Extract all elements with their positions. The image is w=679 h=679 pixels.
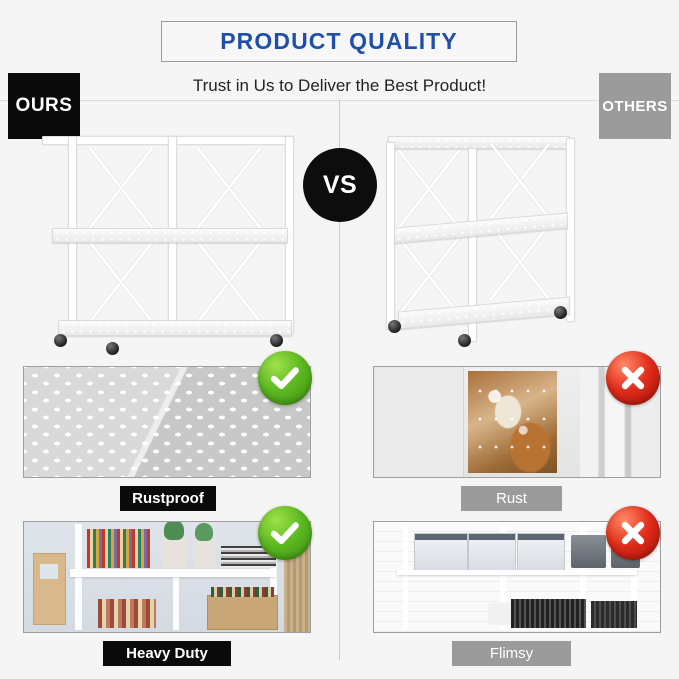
shelf-brace-upper-left <box>75 148 167 228</box>
rust-panel-left <box>374 367 464 477</box>
wooden-chair <box>33 553 66 625</box>
garage-shelf-deck <box>397 570 637 574</box>
shelf-deck-bottom <box>58 320 292 336</box>
potted-plant-b <box>193 540 216 569</box>
shelf-illustration-theirs <box>358 128 648 353</box>
caption-heavy-duty: Heavy Duty <box>103 641 231 666</box>
room-shelf-deck <box>70 569 276 577</box>
plastic-bin-3 <box>517 533 565 571</box>
badge-ours-label: OURS <box>16 95 73 117</box>
room-shelf-post-a <box>75 524 82 630</box>
black-crate-1 <box>511 599 585 628</box>
theirs-brace-upper-right <box>476 144 564 218</box>
shelf-caster-right <box>270 334 283 347</box>
caption-rust-label: Rust <box>496 490 527 507</box>
page-subtitle: Trust in Us to Deliver the Best Product! <box>0 76 679 96</box>
plastic-bin-2 <box>468 533 516 571</box>
versus-label: VS <box>323 171 357 200</box>
rust-panel-center <box>468 371 557 472</box>
caption-rust: Rust <box>461 486 562 511</box>
theirs-caster-front <box>458 334 471 347</box>
shelf-caster-front <box>106 342 119 355</box>
theirs-brace-lower-right <box>476 224 564 300</box>
theirs-caster-left <box>388 320 401 333</box>
theirs-brace-upper-left <box>392 150 466 228</box>
cross-icon-rust <box>606 351 660 405</box>
check-icon-heavy-duty <box>258 506 312 560</box>
plastic-bin-1 <box>414 533 467 571</box>
shelf-brace-lower-left <box>75 240 167 324</box>
cross-icon-flimsy <box>606 506 660 560</box>
caption-flimsy: Flimsy <box>452 641 571 666</box>
garage-shelf-post-1 <box>403 526 409 629</box>
storage-box <box>207 595 278 630</box>
shelf-deck-middle <box>52 228 288 243</box>
shelf-caster-left <box>54 334 67 347</box>
title-box: PRODUCT QUALITY <box>161 21 517 62</box>
black-crate-2 <box>591 601 637 627</box>
page-title: PRODUCT QUALITY <box>220 28 458 55</box>
theirs-post-right <box>566 138 575 322</box>
storage-tote-1 <box>571 535 605 568</box>
product-quality-comparison-infographic: PRODUCT QUALITY Trust in Us to Deliver t… <box>0 0 679 679</box>
shelf-illustration-ours <box>30 128 320 353</box>
books-upper <box>87 529 150 569</box>
theirs-caster-right <box>554 306 567 319</box>
shelf-brace-lower-right <box>176 240 282 324</box>
hero-image-ours <box>30 128 320 353</box>
shelf-brace-upper-right <box>176 148 282 228</box>
caption-rustproof-label: Rustproof <box>132 490 204 507</box>
potted-plant-a <box>161 537 187 568</box>
caption-heavy-duty-label: Heavy Duty <box>126 645 208 662</box>
badge-others-label: OTHERS <box>602 98 668 115</box>
room-shelf-post-b <box>173 573 179 630</box>
caption-flimsy-label: Flimsy <box>490 645 533 662</box>
theirs-brace-lower-left <box>392 236 466 316</box>
check-icon-rustproof <box>258 351 312 405</box>
hero-image-theirs <box>358 128 648 353</box>
caption-rustproof: Rustproof <box>120 486 216 511</box>
versus-badge: VS <box>303 148 377 222</box>
books-lower <box>98 599 155 628</box>
